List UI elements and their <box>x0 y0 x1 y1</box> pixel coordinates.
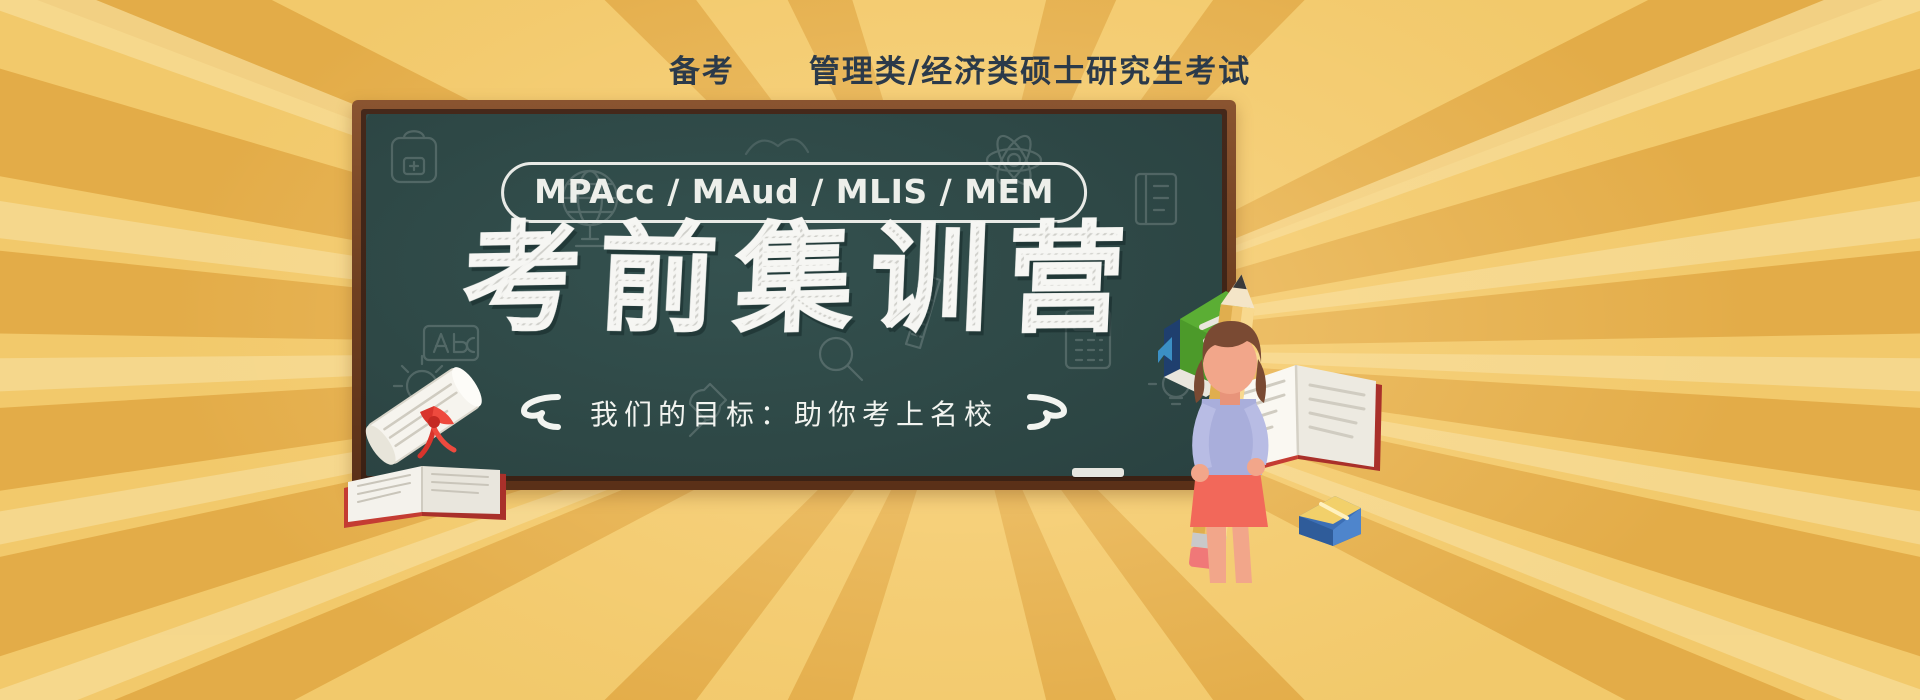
headline-program: 管理类/经济类硕士研究生考试 <box>809 46 1251 91</box>
subtitle-text: 我们的目标：助你考上名校 <box>590 393 998 433</box>
main-title: 考前集训营 <box>366 220 1222 338</box>
program-pill-label: MPAcc / MAud / MLIS / MEM <box>534 172 1054 211</box>
headline-keyword: 备考 <box>669 46 735 91</box>
notebook-icon <box>1136 174 1176 224</box>
scribble-icon <box>746 139 808 154</box>
open-book-shape <box>344 466 506 528</box>
headline: 备考 管理类/经济类硕士研究生考试 <box>0 46 1920 91</box>
title-char: 训 <box>868 219 991 338</box>
title-char: 考 <box>461 219 583 339</box>
backpack-icon <box>392 131 436 182</box>
closed-book-icon <box>1295 490 1365 550</box>
banner-root: 备考 管理类/经济类硕士研究生考试 <box>0 0 1920 700</box>
right-swash-icon <box>1024 391 1070 435</box>
title-char: 前 <box>596 219 720 339</box>
diploma-scroll-and-open-book-icon <box>330 370 550 530</box>
title-char: 集 <box>732 218 855 339</box>
